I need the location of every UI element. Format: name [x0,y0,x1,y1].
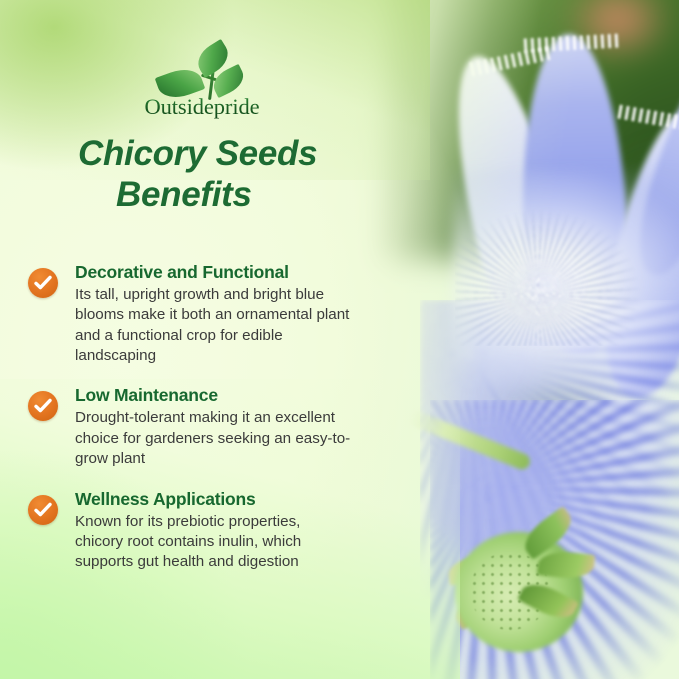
chicory-benefits-infographic: Outsidepride Chicory Seeds Benefits Deco… [0,0,679,679]
list-item-text: Decorative and Functional Its tall, upri… [58,262,349,366]
brand-name: Outsidepride [136,94,268,120]
benefits-list: Decorative and Functional Its tall, upri… [28,262,408,592]
list-item: Decorative and Functional Its tall, upri… [28,262,408,366]
benefit-heading: Decorative and Functional [75,262,349,283]
benefit-body: Drought-tolerant making it an excellent … [75,408,350,469]
content-layer: Outsidepride Chicory Seeds Benefits Deco… [0,0,679,679]
benefit-body: Its tall, upright growth and bright blue… [75,285,349,366]
brand-logo: Outsidepride [136,46,268,120]
page-title-line2: Benefits [78,175,408,216]
orange-check-circle-icon [28,391,58,421]
benefit-body: Known for its prebiotic properties, chic… [75,512,301,573]
list-item-text: Low Maintenance Drought-tolerant making … [58,385,350,469]
list-item: Low Maintenance Drought-tolerant making … [28,385,408,469]
benefit-heading: Low Maintenance [75,385,350,406]
benefit-heading: Wellness Applications [75,489,301,510]
orange-check-circle-icon [28,495,58,525]
list-item-text: Wellness Applications Known for its preb… [58,489,301,573]
page-title-line1: Chicory Seeds [78,134,317,173]
orange-check-circle-icon [28,268,58,298]
page-title: Chicory Seeds Benefits [78,134,408,215]
list-item: Wellness Applications Known for its preb… [28,489,408,573]
